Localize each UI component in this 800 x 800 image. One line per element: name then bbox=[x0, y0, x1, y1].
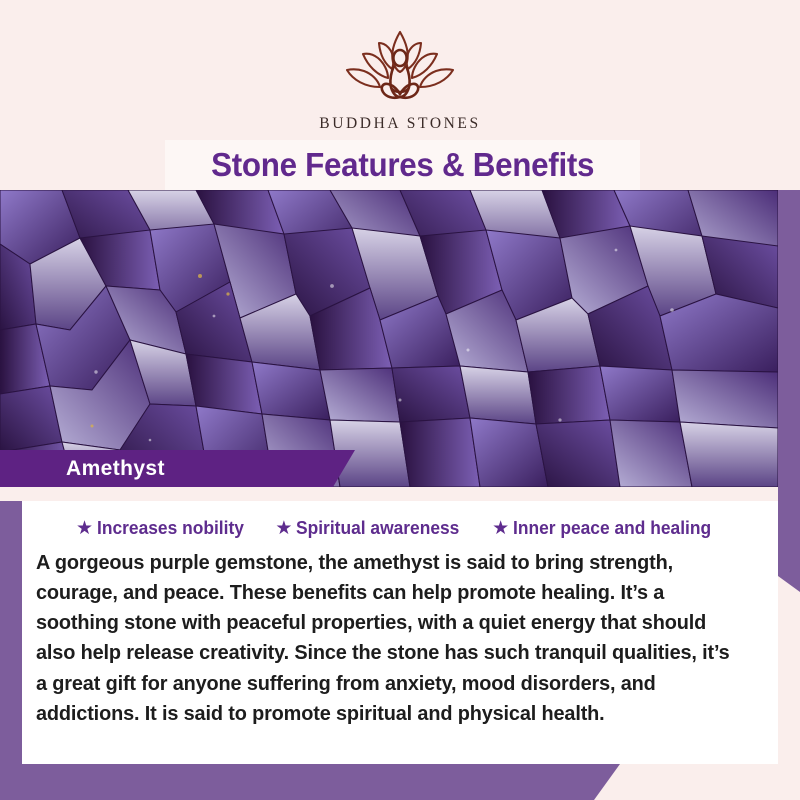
frame-bottom-band bbox=[0, 764, 620, 800]
benefit-label: Increases nobility bbox=[97, 517, 244, 539]
separator-strip bbox=[0, 487, 778, 501]
benefit-item: ★ Inner peace and healing bbox=[492, 517, 724, 539]
benefit-label: Inner peace and healing bbox=[513, 517, 711, 539]
stone-name: Amethyst bbox=[66, 457, 165, 481]
content-panel: ★ Increases nobility ★ Spiritual awarene… bbox=[22, 501, 778, 764]
benefit-item: ★ Spiritual awareness bbox=[275, 517, 470, 539]
infographic-poster: BUDDHA STONES Stone Features & Benefits bbox=[0, 0, 800, 800]
title-band: Stone Features & Benefits bbox=[165, 140, 640, 190]
amethyst-crystal-cluster-photo bbox=[0, 190, 778, 487]
header: BUDDHA STONES Stone Features & Benefits bbox=[0, 0, 800, 190]
stone-name-banner: Amethyst bbox=[0, 450, 355, 487]
brand-logo: BUDDHA STONES bbox=[310, 26, 490, 133]
benefits-list: ★ Increases nobility ★ Spiritual awarene… bbox=[22, 501, 778, 539]
star-icon: ★ bbox=[275, 519, 292, 538]
lotus-meditation-figure-icon bbox=[339, 26, 461, 112]
benefit-label: Spiritual awareness bbox=[296, 517, 459, 539]
stone-description: A gorgeous purple gemstone, the amethyst… bbox=[36, 548, 742, 729]
benefit-item: ★ Increases nobility bbox=[76, 517, 253, 539]
star-icon: ★ bbox=[76, 519, 93, 538]
star-icon: ★ bbox=[492, 519, 509, 538]
page-title: Stone Features & Benefits bbox=[211, 146, 594, 184]
brand-wordmark: BUDDHA STONES bbox=[310, 115, 490, 133]
frame-left-band bbox=[0, 500, 22, 800]
crystal-illustration bbox=[0, 190, 778, 487]
